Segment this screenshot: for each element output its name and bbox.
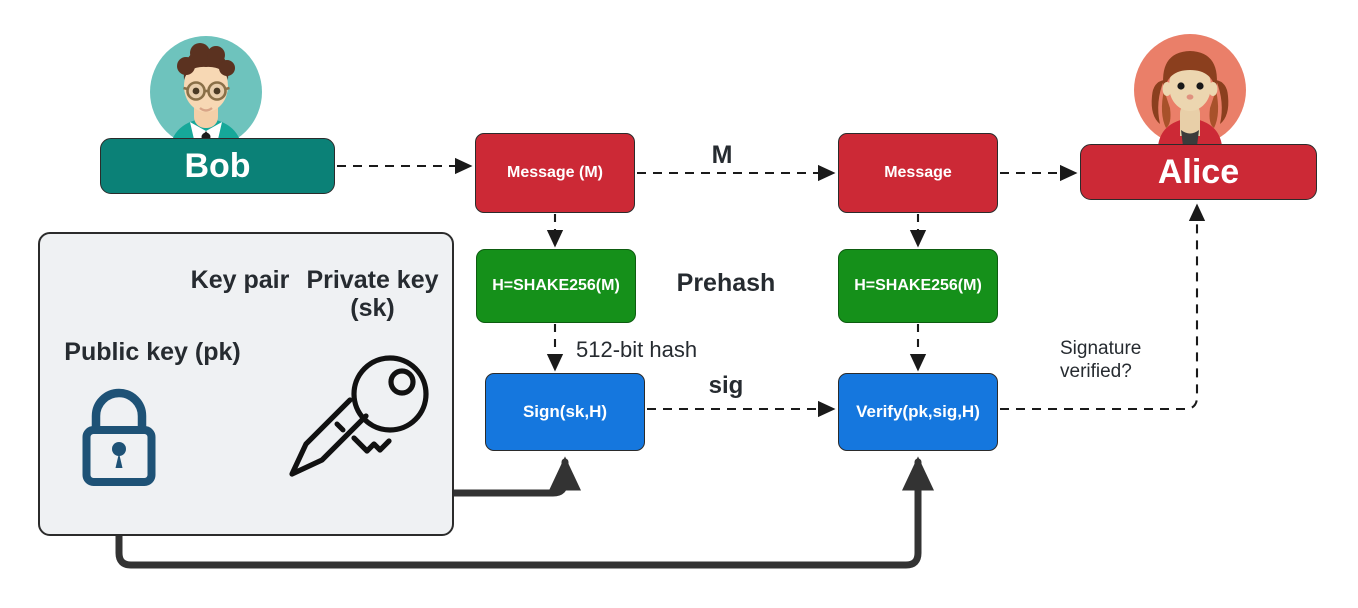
receiver-message-node[interactable]: Message bbox=[838, 133, 998, 213]
key-icon bbox=[282, 354, 432, 479]
message-transfer-label: M bbox=[697, 140, 747, 170]
bob-node[interactable]: Bob bbox=[100, 138, 335, 194]
keypair-label: Key pair bbox=[185, 266, 295, 294]
alice-avatar-icon bbox=[1134, 34, 1246, 146]
padlock-icon bbox=[78, 383, 160, 488]
bob-avatar-icon bbox=[150, 36, 262, 148]
public-key-label: Public key (pk) bbox=[50, 338, 255, 366]
sign-node[interactable]: Sign(sk,H) bbox=[485, 373, 645, 451]
verify-node[interactable]: Verify(pk,sig,H) bbox=[838, 373, 998, 451]
diagram-canvas: Key pair Private key (sk) Public key (pk… bbox=[0, 0, 1358, 608]
prehash-label: Prehash bbox=[664, 268, 788, 298]
hash-size-label: 512-bit hash bbox=[576, 337, 732, 363]
receiver-hash-node[interactable]: H=SHAKE256(M) bbox=[838, 249, 998, 323]
signature-transfer-label: sig bbox=[700, 372, 752, 401]
private-key-label: Private key (sk) bbox=[305, 266, 440, 322]
sender-message-node[interactable]: Message (M) bbox=[475, 133, 635, 213]
alice-node[interactable]: Alice bbox=[1080, 144, 1317, 200]
sender-hash-node[interactable]: H=SHAKE256(M) bbox=[476, 249, 636, 323]
verification-result-label: Signatureverified? bbox=[1060, 338, 1178, 384]
